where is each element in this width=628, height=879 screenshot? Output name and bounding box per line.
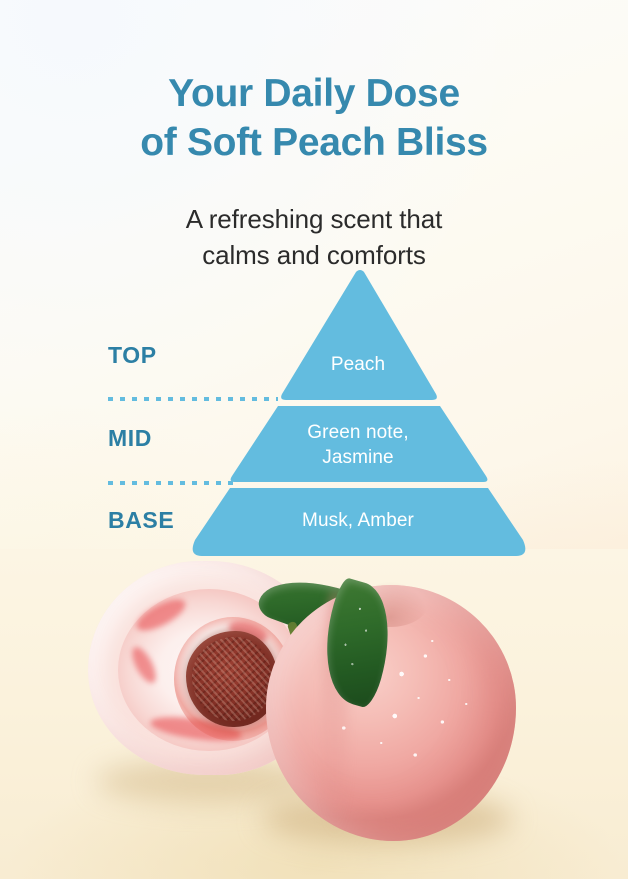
headline-line-2: of Soft Peach Bliss xyxy=(0,119,628,168)
peach-fragrance-infographic: Your Daily Dose of Soft Peach Bliss A re… xyxy=(0,0,628,879)
whole-peach xyxy=(266,585,516,841)
pyramid-band-mid xyxy=(231,406,488,482)
pyramid-band-base xyxy=(193,488,526,556)
subheadline-line-1: A refreshing scent that xyxy=(0,202,628,238)
pyramid-shape xyxy=(186,268,530,560)
page-title: Your Daily Dose of Soft Peach Bliss xyxy=(0,70,628,168)
scent-pyramid: Peach Green note, Jasmine Musk, Amber xyxy=(186,268,530,560)
peach-pit xyxy=(186,631,278,727)
tier-label-base: BASE xyxy=(108,507,174,534)
tier-label-mid: MID xyxy=(108,425,152,452)
pyramid-band-top xyxy=(281,270,437,400)
tier-label-top: TOP xyxy=(108,342,157,369)
peach-photograph xyxy=(0,549,628,879)
headline-line-1: Your Daily Dose xyxy=(0,70,628,119)
page-subtitle: A refreshing scent that calms and comfor… xyxy=(0,202,628,274)
